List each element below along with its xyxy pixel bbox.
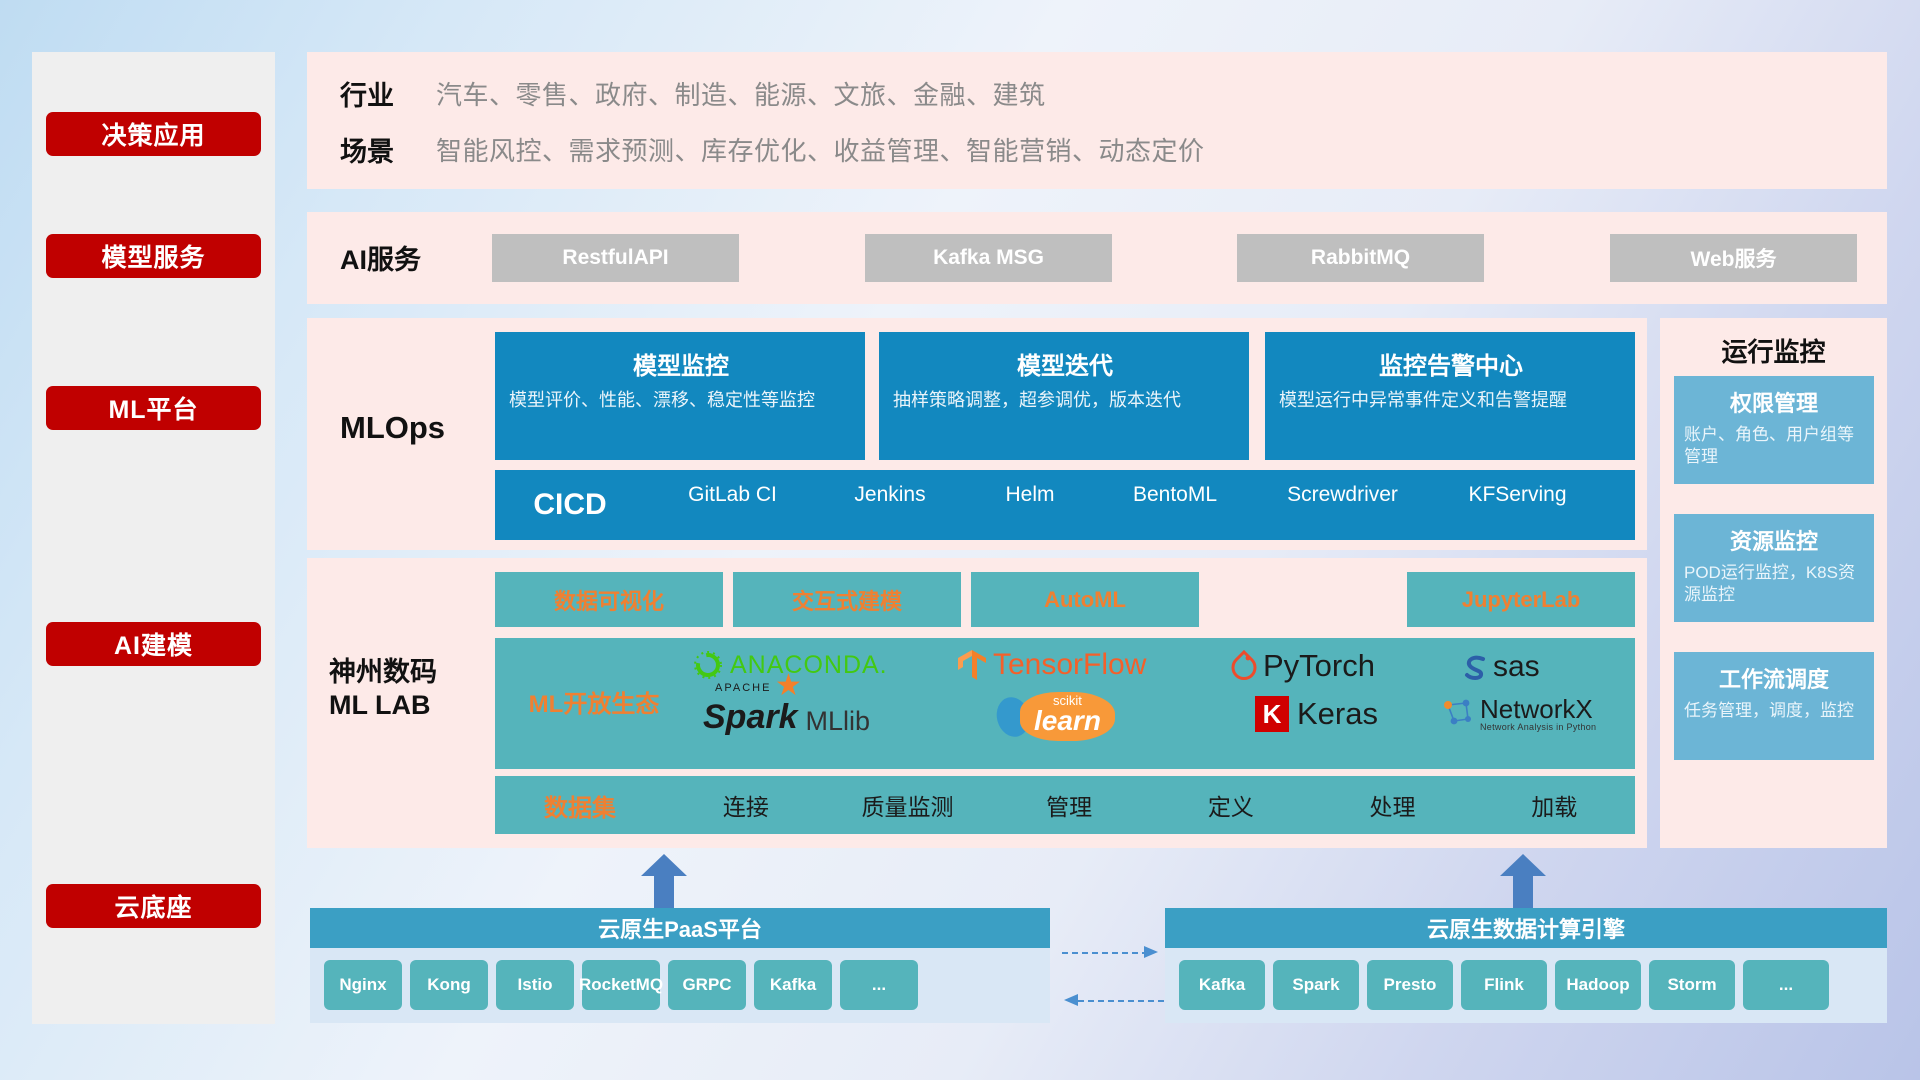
- card-title: 权限管理: [1684, 386, 1864, 418]
- paas-chip-istio[interactable]: Istio: [496, 960, 574, 1010]
- spark-star-icon: ★: [775, 668, 802, 703]
- tool-chip-jupyterlab[interactable]: JupyterLab: [1407, 572, 1635, 627]
- decision-app-panel: 行业 汽车、零售、政府、制造、能源、文旅、金融、建筑 场景 智能风控、需求预测、…: [307, 52, 1887, 189]
- cicd-item-bentoml[interactable]: BentoML: [1100, 483, 1250, 527]
- rail-item-model-service[interactable]: 模型服务: [46, 234, 261, 278]
- card-desc: 账户、角色、用户组等管理: [1684, 424, 1864, 468]
- card-title: 监控告警中心: [1279, 346, 1623, 381]
- connector-left-arrow-icon: [1060, 992, 1078, 1010]
- dataset-item-quality[interactable]: 质量监测: [827, 788, 989, 822]
- learn-label: learn: [1034, 707, 1101, 735]
- engine-chip-hadoop[interactable]: Hadoop: [1555, 960, 1641, 1010]
- card-title: 资源监控: [1684, 524, 1864, 556]
- logo-sas: sas: [1460, 650, 1540, 684]
- spark-label: Spark: [703, 698, 798, 736]
- pytorch-icon: [1230, 650, 1258, 682]
- ai-chip-web-service[interactable]: Web服务: [1610, 234, 1857, 282]
- paas-box: 云原生PaaS平台 Nginx Kong Istio RocketMQ GRPC…: [310, 908, 1050, 1023]
- dataset-item-connect[interactable]: 连接: [665, 788, 827, 822]
- card-title: 工作流调度: [1684, 662, 1864, 694]
- tool-label: 数据可视化: [554, 584, 664, 616]
- tool-label: 交互式建模: [792, 584, 902, 616]
- industry-row: 行业 汽车、零售、政府、制造、能源、文旅、金融、建筑: [340, 74, 1046, 113]
- data-engine-title-bar: 云原生数据计算引擎: [1165, 908, 1887, 948]
- mlops-card-model-monitoring[interactable]: 模型监控 模型评价、性能、漂移、稳定性等监控: [495, 332, 865, 460]
- mlops-label: MLOps: [340, 410, 445, 446]
- logo-spark-mllib: APACHE ★ Spark MLlib: [703, 698, 870, 737]
- industry-label: 行业: [340, 74, 436, 113]
- networkx-icon: [1440, 697, 1476, 731]
- tool-chip-interactive-modeling[interactable]: 交互式建模: [733, 572, 961, 627]
- card-desc: 模型运行中异常事件定义和告警提醒: [1279, 389, 1623, 413]
- paas-chip-more[interactable]: ...: [840, 960, 918, 1010]
- tool-label: JupyterLab: [1462, 587, 1581, 613]
- monitor-card-permission[interactable]: 权限管理 账户、角色、用户组等管理: [1674, 376, 1874, 484]
- connector-left-line: [1078, 1000, 1164, 1002]
- cicd-bar: CICD GitLab CI Jenkins Helm BentoML Scre…: [495, 470, 1635, 540]
- spark-apache-label: APACHE: [715, 682, 771, 694]
- pytorch-label: PyTorch: [1263, 648, 1375, 684]
- connector-right-line: [1062, 952, 1148, 954]
- mllib-label: MLlib: [806, 706, 871, 737]
- data-engine-title: 云原生数据计算引擎: [1427, 912, 1625, 944]
- scenario-values: 智能风控、需求预测、库存优化、收益管理、智能营销、动态定价: [436, 131, 1205, 168]
- paas-title-bar: 云原生PaaS平台: [310, 908, 1050, 948]
- ml-ecosystem-title: ML开放生态: [509, 684, 679, 719]
- cicd-item-gitlab-ci[interactable]: GitLab CI: [645, 483, 820, 527]
- diagram-canvas: 决策应用 模型服务 ML平台 AI建模 云底座 行业 汽车、零售、政府、制造、能…: [0, 0, 1920, 1080]
- data-engine-chip-list: Kafka Spark Presto Flink Hadoop Storm ..…: [1179, 960, 1829, 1010]
- dataset-item-process[interactable]: 处理: [1312, 788, 1474, 822]
- tensorflow-icon: [955, 648, 989, 682]
- rail-label: AI建模: [114, 626, 193, 662]
- rail-label: ML平台: [108, 390, 198, 426]
- left-rail: 决策应用 模型服务 ML平台 AI建模 云底座: [32, 52, 275, 1024]
- ai-service-label: AI服务: [340, 238, 421, 277]
- ai-chip-rabbitmq[interactable]: RabbitMQ: [1237, 234, 1484, 282]
- dataset-item-define[interactable]: 定义: [1150, 788, 1312, 822]
- runtime-monitor-panel: 运行监控 权限管理 账户、角色、用户组等管理 资源监控 POD运行监控，K8S资…: [1660, 318, 1887, 848]
- scenario-row: 场景 智能风控、需求预测、库存优化、收益管理、智能营销、动态定价: [340, 130, 1205, 169]
- tool-label: AutoML: [1044, 587, 1126, 613]
- ml-lab-label: 神州数码 ML LAB: [329, 656, 437, 722]
- ml-ecosystem-block: ML开放生态 ANACONDA. TensorFlow: [495, 638, 1635, 769]
- runtime-monitor-title: 运行监控: [1660, 332, 1887, 369]
- monitor-card-workflow[interactable]: 工作流调度 任务管理，调度，监控: [1674, 652, 1874, 760]
- paas-chip-kong[interactable]: Kong: [410, 960, 488, 1010]
- engine-chip-presto[interactable]: Presto: [1367, 960, 1453, 1010]
- card-desc: 模型评价、性能、漂移、稳定性等监控: [509, 389, 853, 413]
- networkx-label: NetworkX: [1480, 696, 1596, 723]
- card-desc: POD运行监控，K8S资源监控: [1684, 562, 1864, 606]
- connector-right-arrow-icon: [1144, 944, 1162, 962]
- ai-chip-label: RestfulAPI: [562, 246, 668, 270]
- ai-chip-restfulapi[interactable]: RestfulAPI: [492, 234, 739, 282]
- dataset-label: 数据集: [495, 788, 665, 823]
- networkx-sub-label: Network Analysis in Python: [1480, 723, 1596, 732]
- engine-chip-more[interactable]: ...: [1743, 960, 1829, 1010]
- logo-tensorflow: TensorFlow: [955, 648, 1146, 682]
- logo-scikit-learn: scikit learn: [990, 692, 1115, 741]
- logo-networkx: NetworkX Network Analysis in Python: [1440, 696, 1596, 733]
- engine-chip-kafka[interactable]: Kafka: [1179, 960, 1265, 1010]
- rail-item-ai-modeling[interactable]: AI建模: [46, 622, 261, 666]
- rail-item-cloud-base[interactable]: 云底座: [46, 884, 261, 928]
- card-desc: 抽样策略调整，超参调优，版本迭代: [893, 389, 1237, 413]
- monitor-card-resource[interactable]: 资源监控 POD运行监控，K8S资源监控: [1674, 514, 1874, 622]
- rail-label: 模型服务: [101, 238, 205, 274]
- rail-label: 决策应用: [101, 116, 205, 152]
- rail-item-decision-app[interactable]: 决策应用: [46, 112, 261, 156]
- paas-title: 云原生PaaS平台: [598, 912, 762, 944]
- engine-chip-flink[interactable]: Flink: [1461, 960, 1547, 1010]
- ml-lab-label-line2: ML LAB: [329, 689, 437, 722]
- paas-chip-rocketmq[interactable]: RocketMQ: [582, 960, 660, 1010]
- paas-chip-grpc[interactable]: GRPC: [668, 960, 746, 1010]
- anaconda-label: ANACONDA.: [730, 651, 888, 680]
- ai-chip-label: Web服务: [1691, 243, 1777, 273]
- scenario-label: 场景: [340, 130, 436, 169]
- industry-values: 汽车、零售、政府、制造、能源、文旅、金融、建筑: [436, 75, 1046, 112]
- paas-chip-kafka[interactable]: Kafka: [754, 960, 832, 1010]
- tool-chip-automl[interactable]: AutoML: [971, 572, 1199, 627]
- anaconda-icon: [693, 650, 723, 680]
- card-desc: 任务管理，调度，监控: [1684, 700, 1864, 722]
- ai-chip-label: RabbitMQ: [1311, 246, 1410, 270]
- engine-chip-storm[interactable]: Storm: [1649, 960, 1735, 1010]
- sas-icon: [1460, 652, 1490, 682]
- arrow-up-data-engine-icon: [1500, 854, 1546, 908]
- logo-keras: K Keras: [1255, 696, 1378, 732]
- card-title: 模型迭代: [893, 346, 1237, 381]
- mlops-card-model-iteration[interactable]: 模型迭代 抽样策略调整，超参调优，版本迭代: [879, 332, 1249, 460]
- ai-chip-label: Kafka MSG: [933, 246, 1044, 270]
- dataset-item-manage[interactable]: 管理: [988, 788, 1150, 822]
- arrow-up-paas-icon: [641, 854, 687, 908]
- rail-item-ml-platform[interactable]: ML平台: [46, 386, 261, 430]
- dataset-item-load[interactable]: 加载: [1473, 788, 1635, 822]
- cicd-item-screwdriver[interactable]: Screwdriver: [1250, 483, 1435, 527]
- keras-mark-icon: K: [1255, 696, 1289, 732]
- data-engine-box: 云原生数据计算引擎 Kafka Spark Presto Flink Hadoo…: [1165, 908, 1887, 1023]
- cicd-item-jenkins[interactable]: Jenkins: [820, 483, 960, 527]
- paas-chip-list: Nginx Kong Istio RocketMQ GRPC Kafka ...: [324, 960, 918, 1010]
- ml-lab-label-line1: 神州数码: [329, 656, 437, 689]
- tensorflow-label: TensorFlow: [993, 648, 1146, 682]
- logo-pytorch: PyTorch: [1230, 648, 1375, 684]
- sas-label: sas: [1493, 650, 1540, 684]
- keras-label: Keras: [1297, 696, 1378, 732]
- ai-service-panel: AI服务 RestfulAPI Kafka MSG RabbitMQ Web服务: [307, 212, 1887, 304]
- mlops-card-alert-center[interactable]: 监控告警中心 模型运行中异常事件定义和告警提醒: [1265, 332, 1635, 460]
- engine-chip-spark[interactable]: Spark: [1273, 960, 1359, 1010]
- cicd-item-helm[interactable]: Helm: [960, 483, 1100, 527]
- mlops-panel: MLOps 模型监控 模型评价、性能、漂移、稳定性等监控 模型迭代 抽样策略调整…: [307, 318, 1647, 550]
- rail-label: 云底座: [114, 888, 192, 924]
- ai-chip-kafka-msg[interactable]: Kafka MSG: [865, 234, 1112, 282]
- cicd-label: CICD: [495, 488, 645, 522]
- ml-lab-panel: 神州数码 ML LAB 数据可视化 交互式建模 AutoML JupyterLa…: [307, 558, 1647, 848]
- tool-chip-data-visualization[interactable]: 数据可视化: [495, 572, 723, 627]
- card-title: 模型监控: [509, 346, 853, 381]
- cicd-item-kfserving[interactable]: KFServing: [1435, 483, 1600, 527]
- paas-chip-nginx[interactable]: Nginx: [324, 960, 402, 1010]
- dataset-bar: 数据集 连接 质量监测 管理 定义 处理 加载: [495, 776, 1635, 834]
